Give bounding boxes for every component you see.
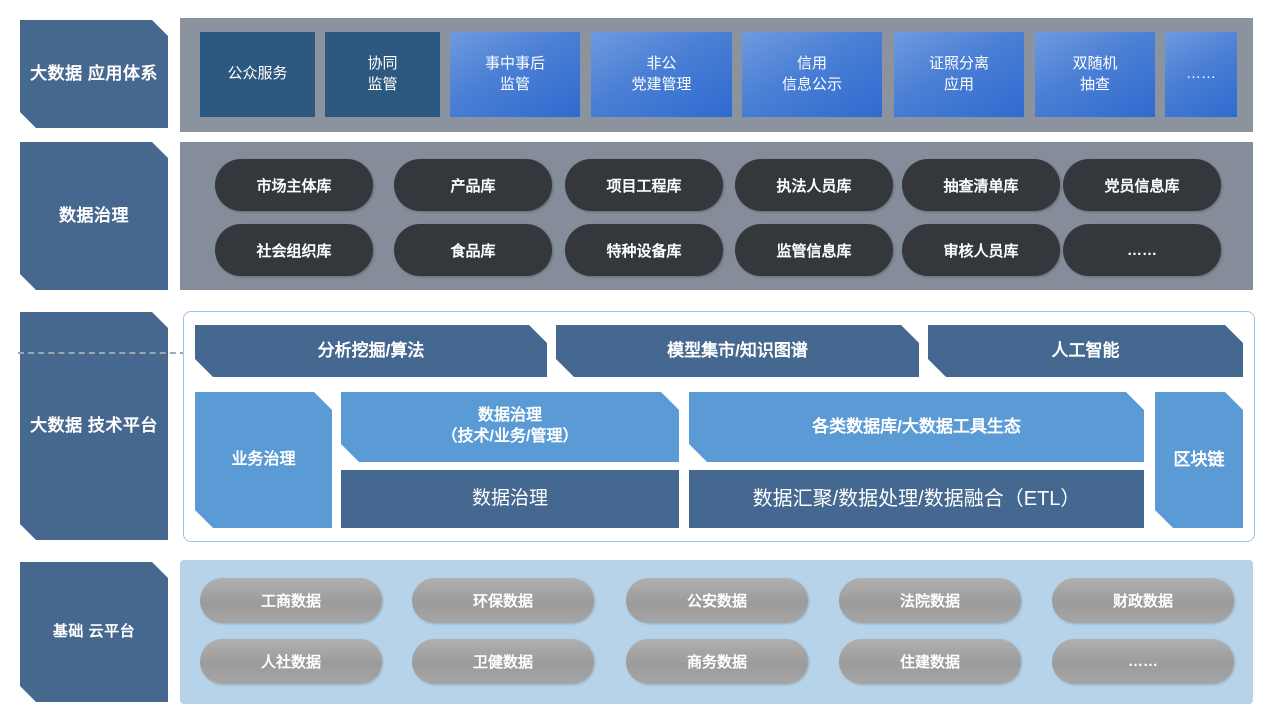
tech-card-etl[interactable]: 数据汇聚/数据处理/数据融合（ETL） <box>689 470 1144 528</box>
cloud-pill[interactable]: 法院数据 <box>839 578 1021 623</box>
app-tile-nonpublic-party-building[interactable]: 非公 党建管理 <box>591 32 732 117</box>
app-tile-double-random-inspection[interactable]: 双随机 抽查 <box>1035 32 1155 117</box>
tech-card-data-governance[interactable]: 数据治理 <box>341 470 679 528</box>
tech-card-business-governance[interactable]: 业务治理 <box>195 392 332 528</box>
app-tile-more[interactable]: …… <box>1165 32 1237 117</box>
architecture-diagram: 大数据 应用体系 公众服务 协同 监管 事中事后 监管 非公 党建管理 信用 信… <box>0 0 1280 720</box>
cloud-pill[interactable]: …… <box>1052 639 1234 684</box>
cloud-pill[interactable]: 环保数据 <box>412 578 594 623</box>
app-tile-credit-disclosure[interactable]: 信用 信息公示 <box>742 32 882 117</box>
governance-pill[interactable]: 食品库 <box>394 224 552 276</box>
governance-pill[interactable]: …… <box>1063 224 1221 276</box>
cloud-pill[interactable]: 商务数据 <box>626 639 808 684</box>
app-tile-during-after-supervision[interactable]: 事中事后 监管 <box>450 32 580 117</box>
tech-card-database-ecology[interactable]: 各类数据库/大数据工具生态 <box>689 392 1144 462</box>
row-label-tech-platform: 大数据 技术平台 <box>20 312 168 540</box>
row-label-cloud-platform: 基础 云平台 <box>20 562 168 702</box>
row-label-data-governance: 数据治理 <box>20 142 168 290</box>
governance-pill[interactable]: 项目工程库 <box>565 159 723 211</box>
cloud-pill[interactable]: 工商数据 <box>200 578 382 623</box>
cloud-pill[interactable]: 人社数据 <box>200 639 382 684</box>
tech-card-blockchain[interactable]: 区块链 <box>1155 392 1243 528</box>
app-tile-collaborative-supervision[interactable]: 协同 监管 <box>325 32 440 117</box>
governance-pill[interactable]: 监管信息库 <box>735 224 893 276</box>
app-tile-public-service[interactable]: 公众服务 <box>200 32 315 117</box>
tech-card-data-governance-detail[interactable]: 数据治理 （技术/业务/管理） <box>341 392 679 462</box>
governance-pill[interactable]: 产品库 <box>394 159 552 211</box>
tech-card-analysis-mining[interactable]: 分析挖掘/算法 <box>195 325 547 377</box>
governance-pill[interactable]: 党员信息库 <box>1063 159 1221 211</box>
governance-pill[interactable]: 执法人员库 <box>735 159 893 211</box>
cloud-pill[interactable]: 住建数据 <box>839 639 1021 684</box>
row-label-application: 大数据 应用体系 <box>20 20 168 128</box>
governance-pill[interactable]: 审核人员库 <box>902 224 1060 276</box>
tech-card-model-market[interactable]: 模型集市/知识图谱 <box>556 325 919 377</box>
governance-pill[interactable]: 市场主体库 <box>215 159 373 211</box>
app-tile-license-separation[interactable]: 证照分离 应用 <box>894 32 1024 117</box>
cloud-pill[interactable]: 公安数据 <box>626 578 808 623</box>
governance-pill[interactable]: 特种设备库 <box>565 224 723 276</box>
tech-platform-connector <box>18 352 186 354</box>
governance-pill[interactable]: 抽查清单库 <box>902 159 1060 211</box>
governance-pill[interactable]: 社会组织库 <box>215 224 373 276</box>
cloud-pill[interactable]: 财政数据 <box>1052 578 1234 623</box>
cloud-pill[interactable]: 卫健数据 <box>412 639 594 684</box>
tech-card-ai[interactable]: 人工智能 <box>928 325 1243 377</box>
